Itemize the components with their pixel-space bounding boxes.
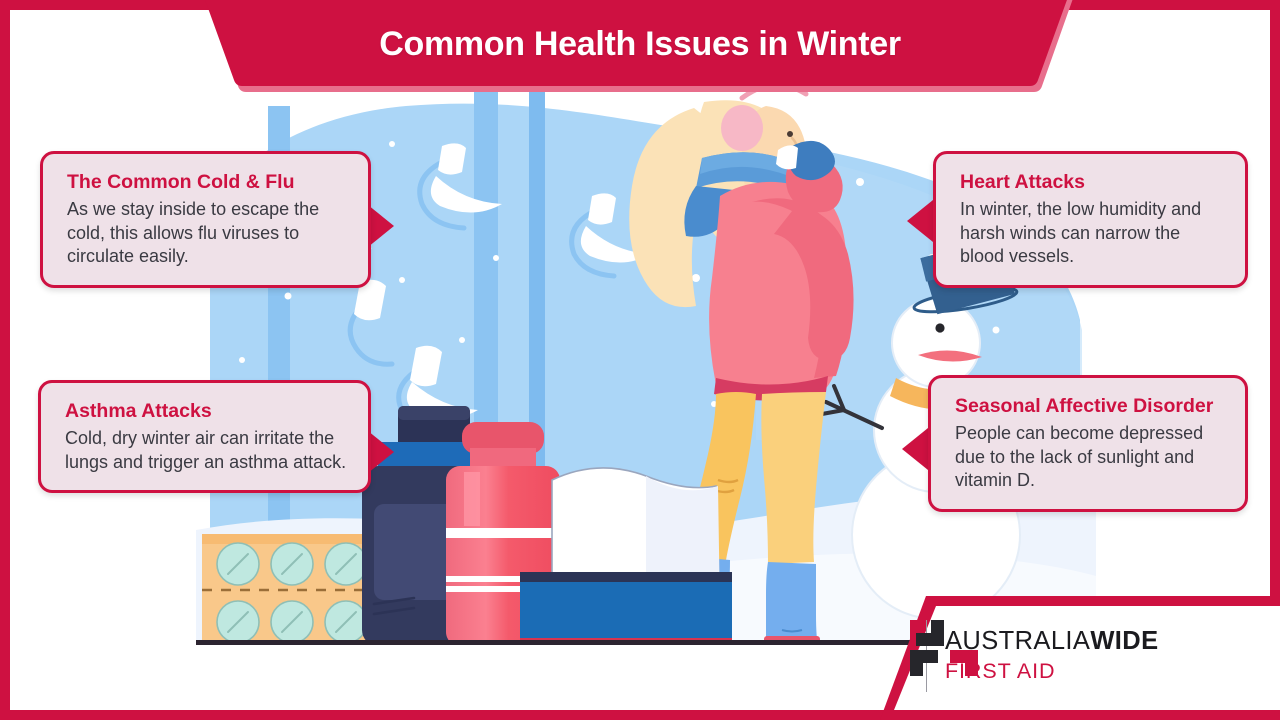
logo-banner[interactable]: AUSTRALIAWIDE FIRST AID — [880, 588, 1280, 720]
callout-pointer-heart-attacks — [907, 200, 933, 242]
blue-tissue-box — [520, 468, 732, 645]
callout-asthma-attacks[interactable]: Asthma Attacks Cold, dry winter air can … — [38, 380, 371, 493]
winter-scene-illustration — [196, 10, 1096, 645]
logo-brand-part2: WIDE — [1090, 627, 1158, 655]
callout-body-asthma-attacks: Cold, dry winter air can irritate the lu… — [65, 427, 348, 475]
callout-seasonal-affective-disorder[interactable]: Seasonal Affective Disorder People can b… — [928, 375, 1248, 512]
callout-title-heart-attacks: Heart Attacks — [960, 170, 1225, 195]
pill-blister-pack — [202, 534, 374, 645]
title-banner: Common Health Issues in Winter — [196, 0, 1084, 92]
infographic-canvas: Common Health Issues in Winter The Commo… — [0, 0, 1280, 720]
callout-pointer-common-cold-flu — [368, 205, 394, 247]
callout-common-cold-flu[interactable]: The Common Cold & Flu As we stay inside … — [40, 151, 371, 288]
callout-body-seasonal-affective-disorder: People can become depressed due to the l… — [955, 422, 1225, 493]
callout-title-asthma-attacks: Asthma Attacks — [65, 399, 348, 424]
callout-body-heart-attacks: In winter, the low humidity and harsh wi… — [960, 198, 1225, 269]
callout-title-common-cold-flu: The Common Cold & Flu — [67, 170, 348, 195]
callout-pointer-asthma-attacks — [368, 431, 394, 473]
callout-body-common-cold-flu: As we stay inside to escape the cold, th… — [67, 198, 348, 269]
page-title: Common Health Issues in Winter — [196, 0, 1084, 88]
callout-heart-attacks[interactable]: Heart Attacks In winter, the low humidit… — [933, 151, 1248, 288]
callout-pointer-seasonal-affective-disorder — [902, 428, 928, 470]
four-quadrant-cross-logo — [910, 616, 978, 680]
callout-title-seasonal-affective-disorder: Seasonal Affective Disorder — [955, 394, 1225, 419]
